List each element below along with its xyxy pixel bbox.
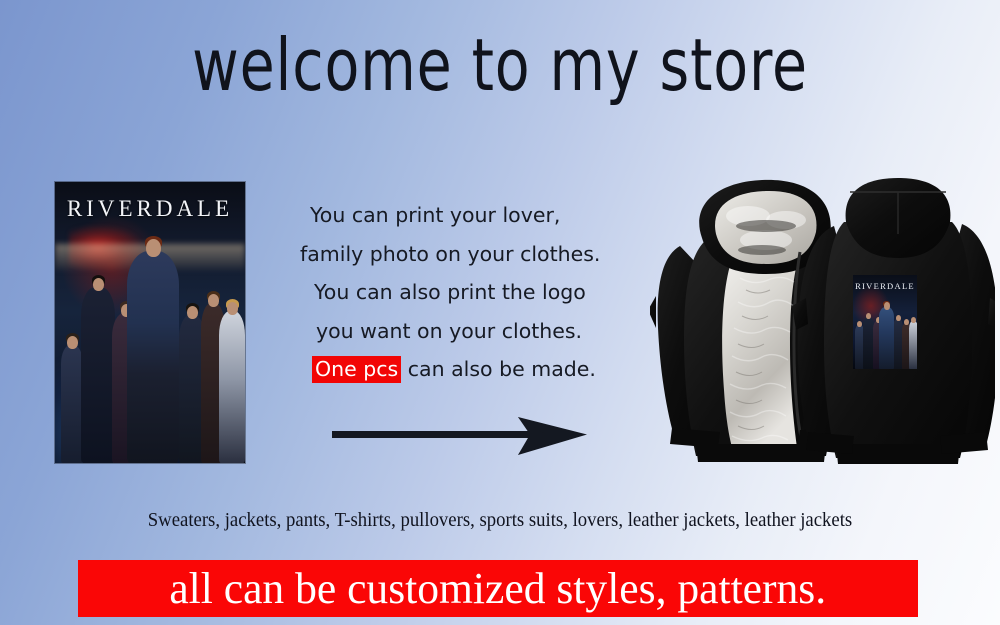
print-figure-head: [884, 302, 890, 310]
poster-figure-head: [67, 336, 78, 349]
print-figure-head: [911, 317, 916, 323]
poster-figure-head: [227, 302, 238, 315]
right-arrow-icon: [332, 414, 587, 458]
print-figure-head: [896, 315, 901, 321]
poster-figure-head: [187, 306, 198, 319]
poster-figure: [219, 311, 245, 463]
store-promo-banner: welcome to my store: [0, 0, 1000, 625]
copy-line-1: You can print your lover,: [300, 196, 670, 235]
poster-figure: [81, 287, 115, 463]
copy-line-3: You can also print the logo: [300, 273, 670, 312]
hoodie-product-photos: [650, 178, 995, 478]
poster-figure-head: [208, 294, 219, 307]
hoodie-print-title: RIVERDALE: [853, 281, 917, 291]
copy-line-4: you want on your clothes.: [300, 312, 670, 351]
poster-figure-head: [93, 278, 104, 291]
print-figure-lead: [879, 307, 894, 369]
print-figure: [909, 321, 917, 369]
red-banner-text: all can be customized styles, patterns.: [170, 564, 827, 614]
poster-figure-lead: [127, 251, 179, 463]
print-figure-head: [904, 319, 909, 325]
poster-figure-head: [146, 239, 161, 257]
page-title: welcome to my store: [60, 22, 940, 108]
riverdale-poster-image: RIVERDALE: [55, 182, 245, 463]
poster-figure: [61, 345, 83, 463]
copy-line-5-rest: can also be made.: [401, 357, 596, 381]
promo-copy-block: You can print your lover, family photo o…: [300, 196, 670, 389]
print-figure-head: [857, 321, 862, 327]
category-list-text: Sweaters, jackets, pants, T-shirts, pull…: [20, 508, 980, 534]
copy-line-2: family photo on your clothes.: [300, 235, 670, 274]
poster-title-text: RIVERDALE: [55, 196, 245, 222]
print-figure-head: [866, 313, 871, 319]
customization-red-banner: all can be customized styles, patterns.: [78, 560, 918, 617]
copy-line-5: One pcs can also be made.: [300, 350, 670, 389]
hoodie-riverdale-print: RIVERDALE: [853, 275, 917, 369]
one-pcs-highlight: One pcs: [312, 356, 401, 383]
